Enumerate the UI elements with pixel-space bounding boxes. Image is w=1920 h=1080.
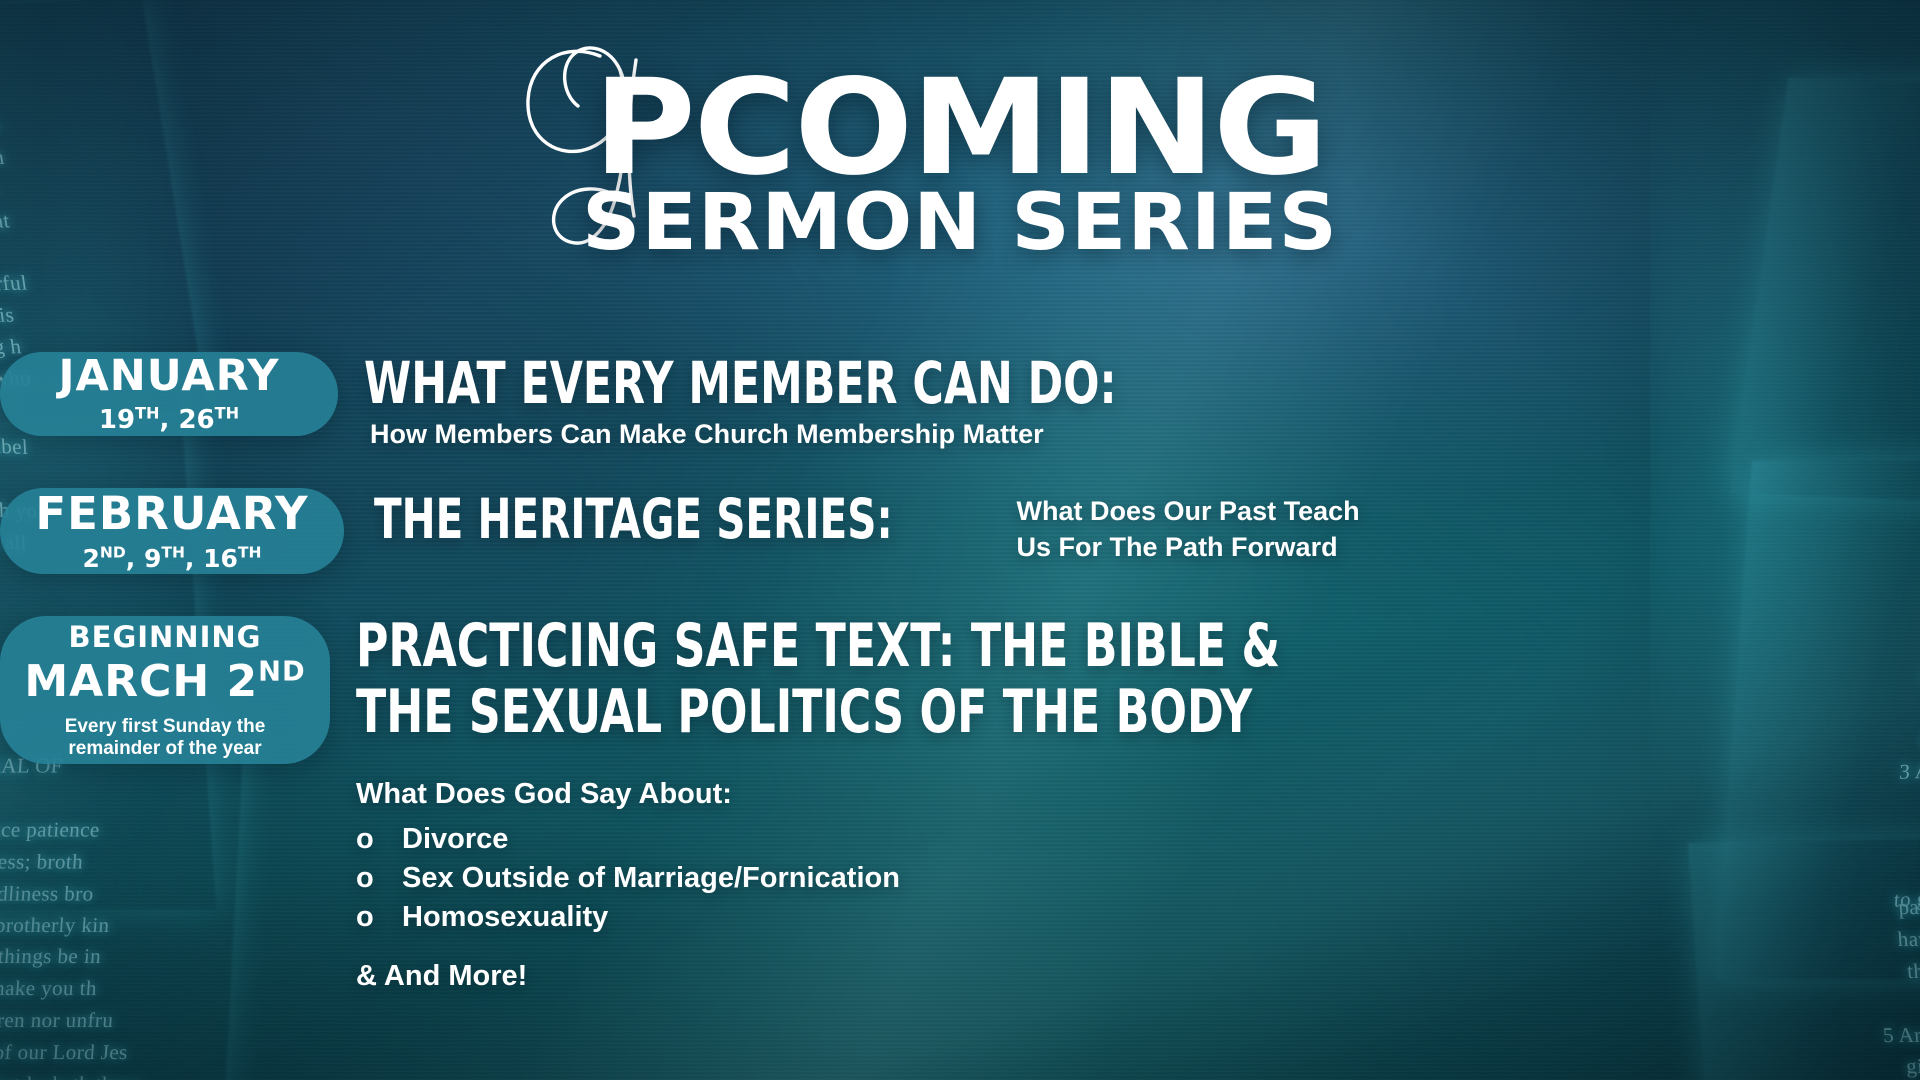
topics-list: o Divorce o Sex Outside of Marriage/Forn… [356, 823, 1920, 934]
series-list: JANUARY 19TH, 26TH WHAT EVERY MEMBER CAN… [0, 352, 1920, 993]
series-title-line-1: PRACTICING SAFE TEXT: THE BIBLE & [356, 616, 1638, 676]
series-content-march: PRACTICING SAFE TEXT: THE BIBLE & THE SE… [356, 616, 1920, 993]
list-item-label: Sex Outside of Marriage/Fornication [402, 862, 900, 895]
series-title: THE HERITAGE SERIES: [374, 492, 893, 547]
series-question: What Does God Say About: [356, 778, 1920, 811]
series-subtitle: How Members Can Make Church Membership M… [370, 419, 1920, 450]
list-item-label: Divorce [402, 823, 508, 856]
day-suffix: TH [238, 544, 262, 562]
series-subtitle-line-2: Us For The Path Forward [1017, 532, 1360, 563]
day-suffix: TH [135, 403, 159, 422]
series-title-line-2: THE SEXUAL POLITICS OF THE BODY [356, 682, 1638, 742]
series-row-february: FEBRUARY 2ND, 9TH, 16TH THE HERITAGE SER… [0, 488, 1920, 574]
series-content-february: THE HERITAGE SERIES: What Does Our Past … [374, 488, 1920, 563]
sermon-series-poster: vvho he cleav sone hum I worketh his, th… [0, 0, 1920, 1080]
badge-days-label: 19TH, 26TH [0, 407, 338, 433]
month-name: MARCH [24, 656, 210, 707]
series-title: WHAT EVERY MEMBER CAN DO: [364, 354, 1640, 412]
series-subtitle-line-1: What Does Our Past Teach [1017, 496, 1360, 527]
day-suffix: TH [215, 403, 239, 422]
badge-note: Every first Sunday the remainder of the … [10, 716, 320, 761]
list-item: o Divorce [356, 823, 1920, 856]
badge-beginning-label: BEGINNING [10, 620, 320, 654]
badge-note-line-1: Every first Sunday the [10, 716, 320, 738]
series-subtitle: What Does Our Past Teach Us For The Path… [1007, 492, 1360, 563]
bullet-marker-icon: o [356, 823, 402, 856]
day-suffix: ND [100, 544, 126, 562]
day-number: 9 [144, 544, 161, 573]
page-subtitle: SERMON SERIES [0, 178, 1920, 268]
title-row: PCOMING [614, 62, 1305, 194]
day-number: 16 [203, 544, 238, 573]
series-row-march: BEGINNING MARCH 2ND Every first Sunday t… [0, 616, 1920, 993]
bullet-marker-icon: o [356, 901, 402, 934]
badge-month-label: MARCH 2ND [10, 660, 320, 704]
day-number: 2 [83, 544, 100, 573]
date-badge-february[interactable]: FEBRUARY 2ND, 9TH, 16TH [0, 488, 344, 574]
badge-days-label: 2ND, 9TH, 16TH [0, 546, 344, 571]
and-more-label: & And More! [356, 960, 1920, 993]
list-item-label: Homosexuality [402, 901, 608, 934]
poster-header: PCOMING SERMON SERIES [0, 62, 1920, 268]
series-content-january: WHAT EVERY MEMBER CAN DO: How Members Ca… [364, 352, 1920, 450]
bullet-marker-icon: o [356, 862, 402, 895]
day-separator: , [185, 544, 203, 573]
day-number: 19 [99, 405, 135, 435]
badge-month-label: JANUARY [0, 355, 338, 398]
day-suffix: ND [258, 656, 305, 687]
date-badge-march[interactable]: BEGINNING MARCH 2ND Every first Sunday t… [0, 616, 330, 764]
badge-month-label: FEBRUARY [0, 491, 344, 536]
page-title: PCOMING [594, 62, 1327, 194]
day-separator: , [160, 405, 179, 435]
day-separator: , [126, 544, 144, 573]
series-row-january: JANUARY 19TH, 26TH WHAT EVERY MEMBER CAN… [0, 352, 1920, 450]
list-item: o Homosexuality [356, 901, 1920, 934]
badge-note-line-2: remainder of the year [10, 738, 320, 760]
day-suffix: TH [161, 544, 185, 562]
date-badge-january[interactable]: JANUARY 19TH, 26TH [0, 352, 338, 436]
day-number: 2 [227, 656, 259, 707]
day-number: 26 [178, 405, 214, 435]
list-item: o Sex Outside of Marriage/Fornication [356, 862, 1920, 895]
